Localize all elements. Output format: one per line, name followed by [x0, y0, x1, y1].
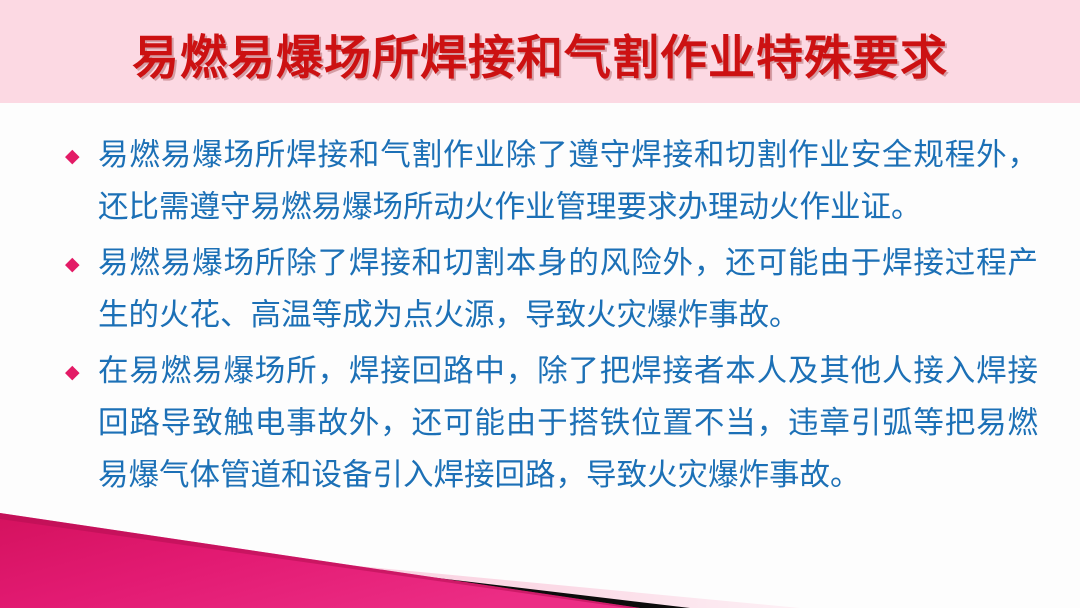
- slide-canvas: 易燃易爆场所焊接和气割作业特殊要求 ◆ 易燃易爆场所焊接和气割作业除了遵守焊接和…: [0, 0, 1080, 608]
- diamond-bullet-icon: ◆: [58, 130, 98, 182]
- page-title: 易燃易爆场所焊接和气割作业特殊要求: [0, 0, 1080, 103]
- black-band: [0, 526, 690, 608]
- magenta-band: [0, 513, 640, 608]
- list-item: ◆ 在易燃易爆场所，焊接回路中，除了把焊接者本人及其他人接入焊接回路导致触电事故…: [58, 346, 1038, 502]
- decorative-diagonal-bands: [0, 488, 1080, 608]
- list-item: ◆ 易燃易爆场所除了焊接和切割本身的风险外，还可能由于焊接过程产生的火花、高温等…: [58, 238, 1038, 342]
- bullet-list: ◆ 易燃易爆场所焊接和气割作业除了遵守焊接和切割作业安全规程外，还比需遵守易燃易…: [58, 130, 1038, 506]
- list-item-text: 在易燃易爆场所，焊接回路中，除了把焊接者本人及其他人接入焊接回路导致触电事故外，…: [98, 346, 1038, 502]
- magenta-band-edge: [0, 513, 640, 608]
- list-item-text: 易燃易爆场所焊接和气割作业除了遵守焊接和切割作业安全规程外，还比需遵守易燃易爆场…: [98, 130, 1038, 234]
- list-item-text: 易燃易爆场所除了焊接和切割本身的风险外，还可能由于焊接过程产生的火花、高温等成为…: [98, 238, 1038, 342]
- diamond-bullet-icon: ◆: [58, 238, 98, 290]
- list-item: ◆ 易燃易爆场所焊接和气割作业除了遵守焊接和切割作业安全规程外，还比需遵守易燃易…: [58, 130, 1038, 234]
- light-pink-band: [0, 532, 800, 608]
- diamond-bullet-icon: ◆: [58, 346, 98, 398]
